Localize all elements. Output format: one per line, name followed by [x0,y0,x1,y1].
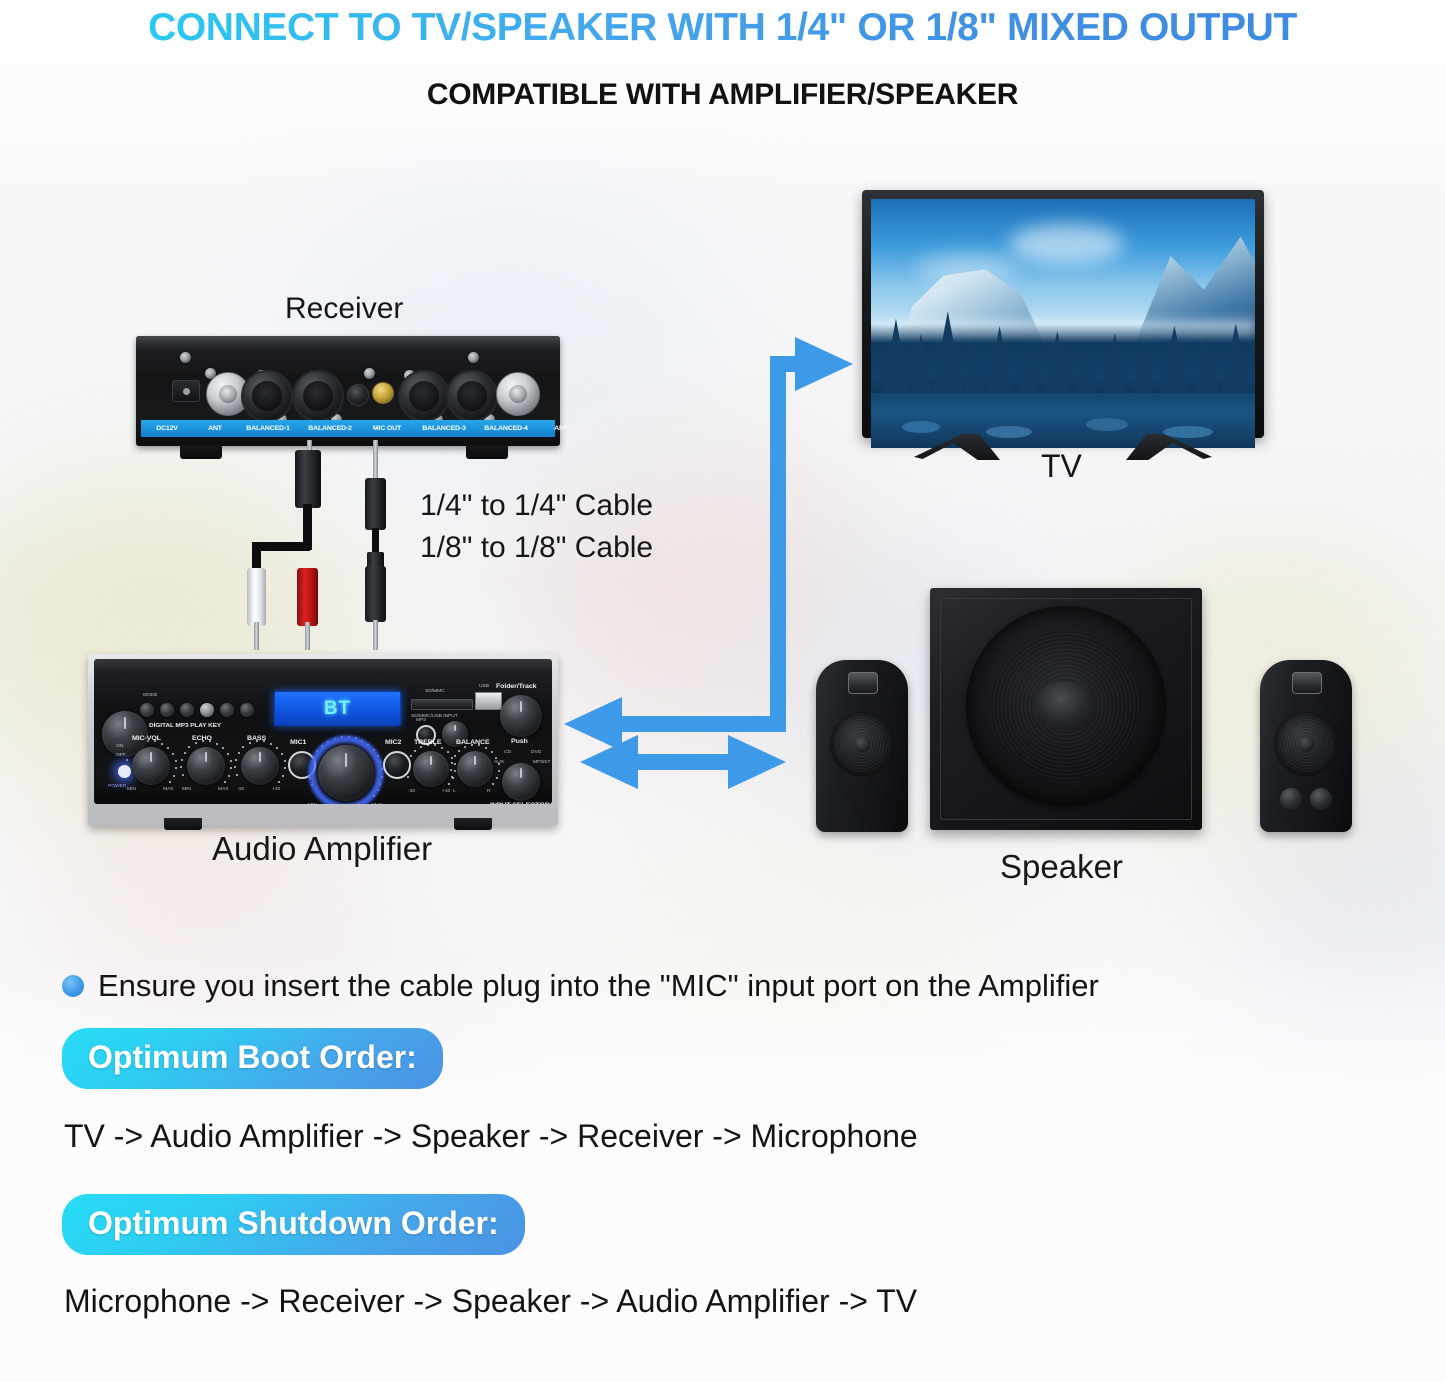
balance-label: BALANCE [456,739,490,745]
receiver-device: DC12V ANT BALANCED-1 BALANCED-2 MIC OUT … [136,336,560,446]
satellite-speaker-left [816,660,908,832]
port-label-mic-out: MIC OUT [361,425,413,431]
subwoofer-driver [966,606,1166,806]
page-title: CONNECT TO TV/SPEAKER WITH 1/4" OR 1/8" … [0,6,1445,50]
balance-left-label: L [453,788,456,793]
mic-vol-knob[interactable] [132,747,170,785]
mic-vol-max-label: MAX [163,786,174,791]
shutdown-order-badge: Optimum Shutdown Order: [62,1194,525,1255]
port-label-ant: ANT [193,425,237,431]
mode-button[interactable] [140,703,154,717]
lcd-display-value: BT [324,698,351,720]
satellite-bass-knob[interactable] [1310,788,1332,810]
digital-mp3-play-key-label: DIGITAL MP3 PLAY KEY [149,722,221,728]
quarter-inch-plug-tip [373,620,378,650]
bass-knob[interactable] [241,747,279,785]
mic-out-jack [372,382,394,404]
sd-mmc-label: SD/MMC [425,688,445,693]
boot-order-badge: Optimum Boot Order: [62,1028,443,1089]
input-option-mp3: MP3/ST [533,759,550,764]
tv-label: TV [1041,448,1082,485]
port-label-balanced-1: BALANCED-1 [237,425,299,431]
mic2-label: MIC2 [385,739,401,745]
folder-track-label: Folder/Track [496,683,536,689]
bass-min-label: -10 [237,786,244,791]
mic-vol-label: MIC-VOL [132,735,161,741]
power-off-label: OFF [116,752,126,757]
amplifier-foot [454,818,492,830]
balance-right-label: R [487,788,491,793]
folder-track-knob[interactable] [500,695,542,737]
mp3-label: MP3 [416,717,426,722]
receiver-foot [466,445,508,459]
speaker-system [808,588,1360,850]
push-label: Push [511,738,528,744]
note-bullet-text: Ensure you insert the cable plug into th… [98,968,1099,1004]
screw-icon [180,352,191,363]
port-label-ant: ANT [537,425,585,431]
amplifier-front-panel: ON OFF POWER MODE DIGITAL MP3 PLAY KEY M… [94,659,552,804]
receiver-foot [180,445,222,459]
amplifier-label: Audio Amplifier [212,830,432,868]
screw-icon [468,352,479,363]
dc-power-port [172,380,200,402]
input-option-dvd: DVD [531,749,541,754]
port-label-balanced-2: BALANCED-2 [299,425,361,431]
quarter-inch-plug-body [365,478,386,530]
receiver-label: Receiver [285,292,403,326]
usb-port[interactable] [475,692,502,710]
note-bullet-row: Ensure you insert the cable plug into th… [62,968,1099,1004]
sd-card-slot[interactable] [411,699,473,710]
antenna-connector [496,372,540,416]
stop-button[interactable] [180,703,194,717]
treble-knob[interactable] [413,751,449,787]
lcd-display: BT [274,691,401,726]
mic2-input-port[interactable] [383,751,411,779]
balanced-output-2 [292,370,344,422]
treble-min-label: -10 [408,788,415,793]
power-led-icon [118,765,131,778]
echo-min-label: MIN [182,786,191,791]
subwoofer [930,588,1202,830]
amplifier-foot [164,818,202,830]
input-selector-knob[interactable] [502,763,540,801]
power-label: POWER [108,783,126,788]
repeat-button[interactable] [200,703,214,717]
volume-knob[interactable] [318,745,374,801]
page-subtitle: COMPATIBLE WITH AMPLIFIER/SPEAKER [0,78,1445,112]
balance-knob[interactable] [457,751,493,787]
echo-knob[interactable] [187,747,225,785]
mic-out-jack-small [347,384,369,406]
cable-label-quarter-inch: 1/4" to 1/4" Cable [420,489,653,523]
echo-label: ECHO [192,735,212,741]
mode-button-label: MODE [143,692,158,697]
balanced-output-1 [241,370,293,422]
balanced-output-3 [398,370,450,422]
prev-track-button[interactable] [240,703,254,717]
port-label-balanced-3: BALANCED-3 [413,425,475,431]
echo-max-label: MAX [218,786,229,791]
speaker-label: Speaker [1000,848,1123,886]
usb-label: USB [479,683,489,688]
cable-assembly [255,440,435,650]
receiver-port-label-strip: DC12V ANT BALANCED-1 BALANCED-2 MIC OUT … [141,420,555,437]
input-option-cd: CD [504,749,511,754]
speaker-badge-icon [848,672,878,694]
bullet-dot-icon [62,975,84,997]
power-on-label: ON [116,743,123,748]
quarter-inch-plug-tip [373,440,378,480]
rca-plug-white [247,568,266,626]
receiver-top-panel [136,336,560,351]
speaker-badge-icon [1292,672,1322,694]
rca-plug-white-tip [254,622,259,650]
minus-button[interactable] [160,703,174,717]
input-selector-label: INPUT SELECTOR [490,802,550,804]
mic-vol-min-label: MIN [127,786,136,791]
bass-label: BASS [247,735,266,741]
splitter-plug-body [295,450,321,508]
quarter-inch-plug-body [365,566,386,622]
port-label-balanced-4: BALANCED-4 [475,425,537,431]
mp3-play-key-row[interactable] [140,703,254,717]
treble-label: TREBLE [414,739,441,745]
boot-order-text: TV -> Audio Amplifier -> Speaker -> Rece… [64,1118,918,1155]
satellite-driver [830,712,894,776]
bass-max-label: +10 [272,786,280,791]
screw-icon [364,368,375,379]
tv-screen [871,199,1255,448]
volume-max-label: MAX [372,802,383,804]
tv-device [862,190,1264,470]
port-label-dc12v: DC12V [141,425,193,431]
satellite-speaker-right [1260,660,1352,832]
mic1-label: MIC1 [290,739,306,745]
cable-label-eighth-inch: 1/8" to 1/8" Cable [420,531,653,565]
treble-max-label: +10 [442,788,450,793]
shutdown-order-text: Microphone -> Receiver -> Speaker -> Aud… [64,1283,917,1320]
rca-plug-red-tip [305,622,310,650]
rca-plug-red [297,568,318,626]
satellite-driver [1274,712,1338,776]
next-track-button[interactable] [220,703,234,717]
balanced-output-4 [446,370,498,422]
audio-amplifier-device: ON OFF POWER MODE DIGITAL MP3 PLAY KEY M… [88,654,558,826]
satellite-volume-knob[interactable] [1280,788,1302,810]
volume-min-label: MIN [308,802,317,804]
input-option-aux: AUX [494,759,504,764]
